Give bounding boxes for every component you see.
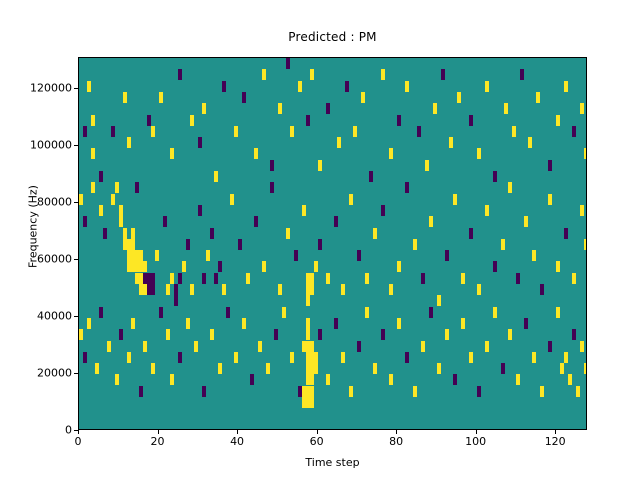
x-tick-label: 120 [545, 435, 566, 448]
figure-canvas: Predicted : PM Frequency (Hz) Time step … [0, 0, 640, 480]
y-tick-label: 120000 [0, 82, 72, 95]
y-tick-mark [74, 259, 78, 260]
x-tick-mark [476, 430, 477, 434]
y-axis-label: Frequency (Hz) [27, 77, 40, 377]
x-tick-mark [396, 430, 397, 434]
x-tick-mark [158, 430, 159, 434]
x-tick-mark [237, 430, 238, 434]
x-tick-label: 0 [75, 435, 82, 448]
x-tick-label: 100 [465, 435, 486, 448]
y-tick-mark [74, 88, 78, 89]
x-axis-label: Time step [78, 456, 587, 469]
heatmap-image [79, 58, 587, 430]
page-title: Predicted : PM [78, 30, 587, 44]
x-tick-mark [78, 430, 79, 434]
y-tick-label: 80000 [0, 196, 72, 209]
y-tick-label: 20000 [0, 367, 72, 380]
x-tick-label: 20 [151, 435, 165, 448]
y-tick-mark [74, 202, 78, 203]
y-tick-mark [74, 145, 78, 146]
heatmap-plot-area [78, 57, 587, 430]
y-tick-label: 100000 [0, 139, 72, 152]
x-tick-label: 80 [389, 435, 403, 448]
y-tick-label: 40000 [0, 310, 72, 323]
y-tick-mark [74, 373, 78, 374]
y-tick-label: 60000 [0, 253, 72, 266]
y-tick-mark [74, 430, 78, 431]
x-tick-mark [317, 430, 318, 434]
x-tick-label: 60 [310, 435, 324, 448]
x-tick-label: 40 [230, 435, 244, 448]
x-tick-mark [555, 430, 556, 434]
y-tick-label: 0 [0, 424, 72, 437]
y-tick-mark [74, 316, 78, 317]
